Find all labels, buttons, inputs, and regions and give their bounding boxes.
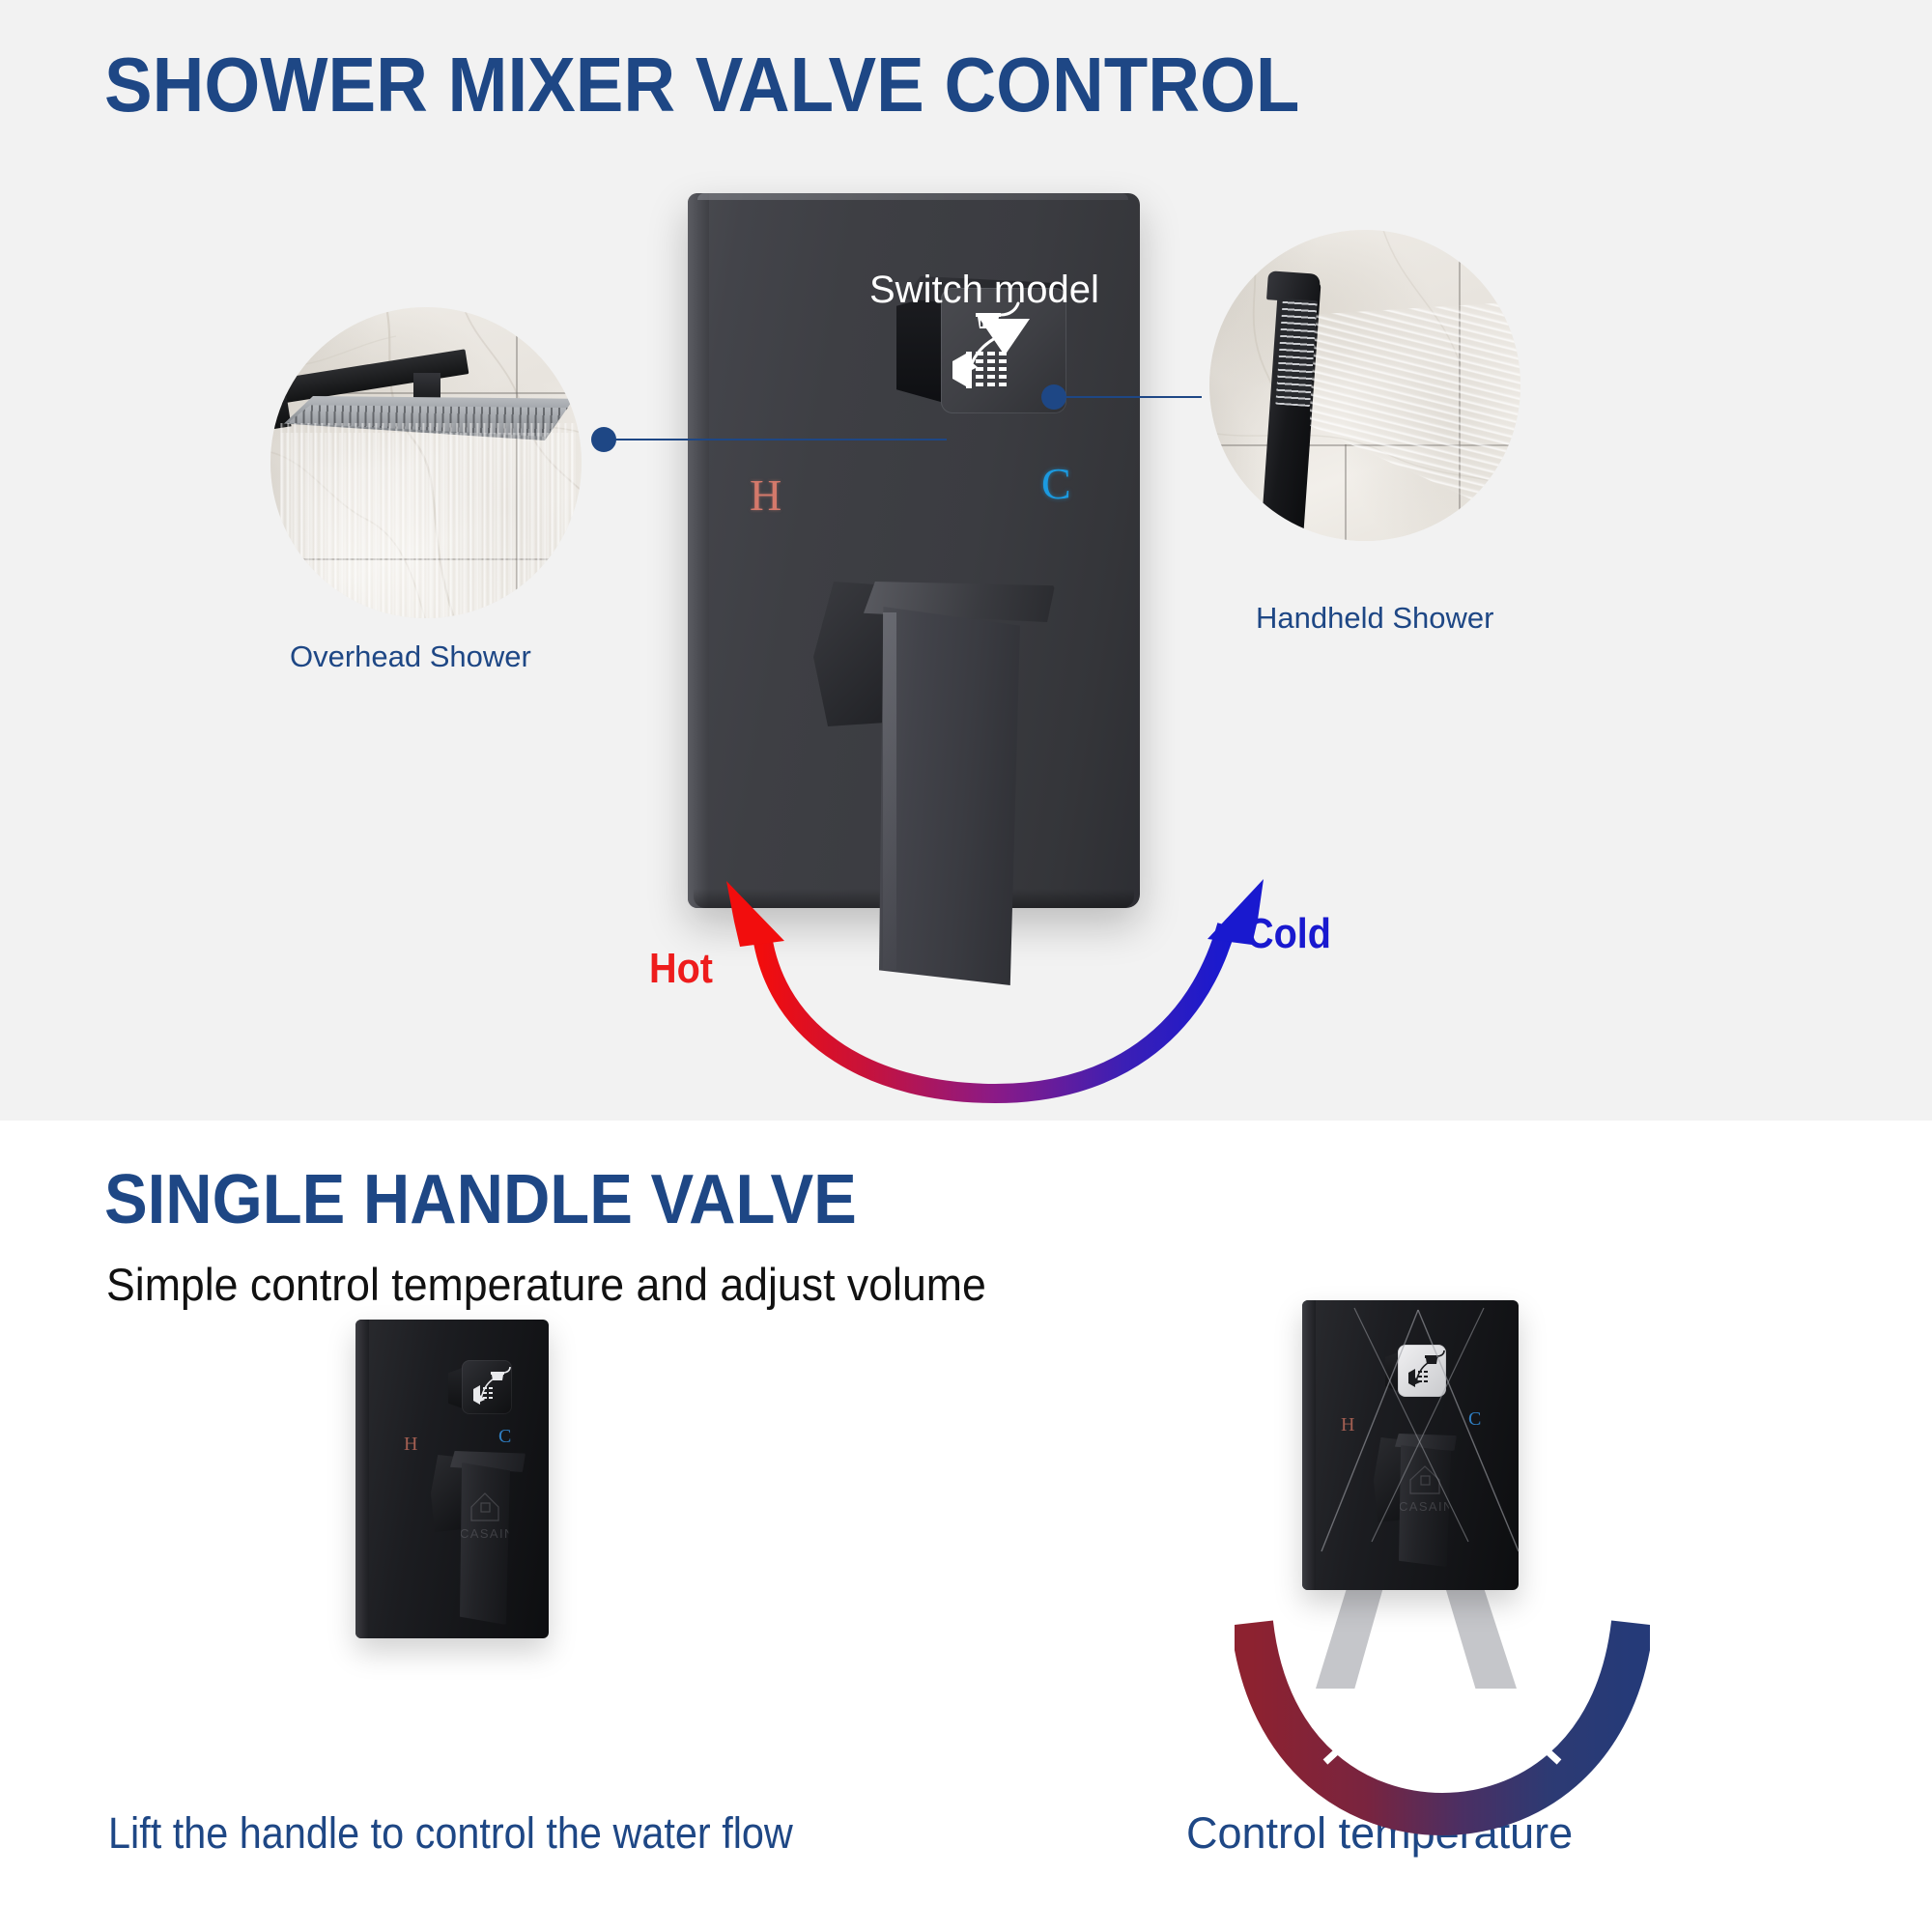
diverter-mode-icon (462, 1360, 512, 1414)
handheld-shower-photo (1209, 230, 1520, 541)
switch-model-label: Switch model (869, 269, 1099, 312)
handle-swing-guides (1294, 1300, 1546, 1706)
valve-faceplate-edge (355, 1320, 369, 1638)
connector-line-handheld (1055, 396, 1202, 398)
handle-body[interactable]: CASAINC (460, 1463, 510, 1625)
tile-grout-line (1345, 444, 1347, 541)
hot-marker: H (750, 469, 781, 521)
valve-faceplate-highlight (697, 193, 1128, 200)
page-title: SHOWER MIXER VALVE CONTROL (104, 41, 1299, 129)
valve-faceplate-edge (688, 193, 709, 908)
hot-cold-temperature-arrow (705, 879, 1285, 1130)
hot-marker: H (404, 1434, 417, 1456)
triangle-down-icon (980, 319, 1030, 355)
single-handle-valve-flow: H C CASAINC (355, 1320, 549, 1638)
cold-marker: C (1041, 458, 1071, 509)
section-subtitle: Simple control temperature and adjust vo… (106, 1258, 986, 1311)
infographic-page: SHOWER MIXER VALVE CONTROL Overhead Show… (0, 0, 1932, 1932)
water-stream-overlay (280, 433, 576, 618)
connector-dot-overhead (591, 427, 616, 452)
overhead-shower-photo (270, 307, 582, 618)
diverter-button[interactable] (462, 1360, 512, 1414)
section-title-single-handle-valve: SINGLE HANDLE VALVE (104, 1159, 857, 1240)
connector-line-overhead (609, 439, 947, 440)
brand-name: CASAINC (460, 1526, 510, 1541)
caption-overhead-shower: Overhead Shower (290, 639, 531, 674)
connector-dot-handheld (1041, 384, 1066, 410)
caption-handheld-shower: Handheld Shower (1256, 601, 1493, 636)
brand-logo-icon (460, 1463, 510, 1625)
label-hot: Hot (649, 945, 713, 993)
handheld-shower-nozzle-face (1275, 298, 1318, 407)
cold-marker: C (498, 1426, 511, 1448)
caption-lift-handle: Lift the handle to control the water flo… (108, 1808, 793, 1859)
